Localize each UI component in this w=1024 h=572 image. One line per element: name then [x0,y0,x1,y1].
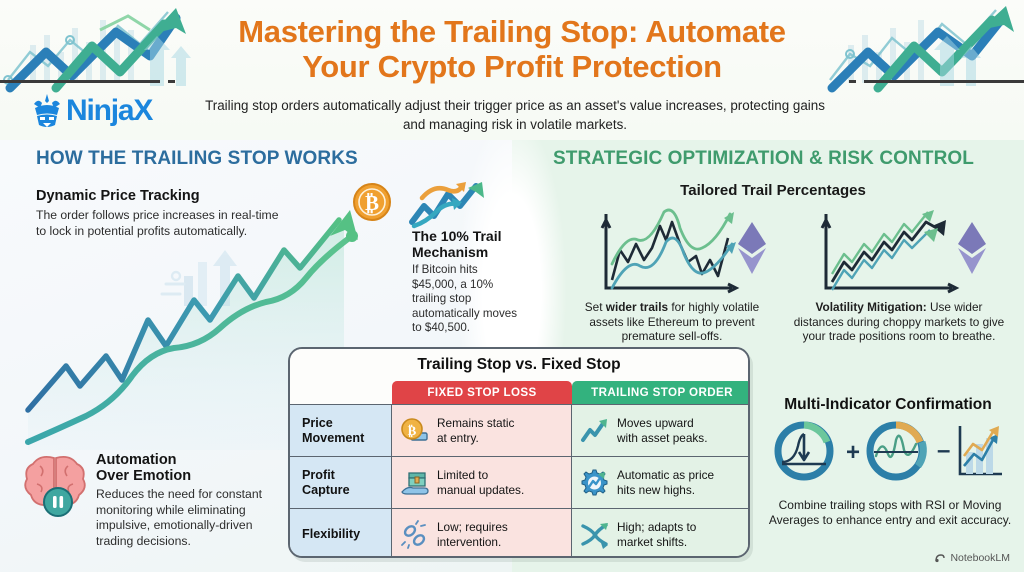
broken-chain-icon [400,520,430,550]
cell-trailing-flexibility: High; adapts to market shifts. [572,508,750,558]
table-row: Profit Capture Limited to manual updates… [290,456,748,508]
cell-fixed-price-movement: ₿ Remains static at entry. [392,404,572,456]
row-label-line-1: Profit [302,468,335,482]
cell-text-fixed-2: Limited to manual updates. [437,468,524,497]
svg-text:₿: ₿ [408,423,417,438]
dynamic-price-title: Dynamic Price Tracking [36,188,281,205]
brand-logo[interactable]: NinjaX [30,92,152,130]
up-arrow-trend-icon [580,416,610,446]
notebooklm-label: NotebookLM [950,552,1010,564]
header-rule-dot-left [168,80,175,83]
trail-mechanism-block: The 10% Trail Mechanism If Bitcoin hits … [412,228,522,336]
header-subtitle: Trailing stop orders automatically adjus… [205,96,825,134]
tailored-trail-caption-2: Volatility Mitigation: Use wider distanc… [790,300,1008,344]
comparison-table-header-row: FIXED STOP LOSS TRAILING STOP ORDER [290,381,748,404]
automation-title-line-2: Over Emotion [96,468,191,484]
comparison-table: Trailing Stop vs. Fixed Stop FIXED STOP … [288,347,750,558]
multi-indicator-title: Multi-Indicator Confirmation [760,396,1016,414]
cell-text-line-1: High; adapts to [617,520,696,534]
cell-text-line-1: Remains static [437,416,514,430]
comparison-table-title: Trailing Stop vs. Fixed Stop [290,349,748,381]
row-label-line-1: Price [302,416,333,430]
minus-operator: – [937,437,950,464]
cell-fixed-profit-capture: Limited to manual updates. [392,456,572,508]
trail-mechanism-title: The 10% Trail Mechanism [412,228,522,260]
header-rule-right [864,80,1024,83]
cell-text-trailing-3: High; adapts to market shifts. [617,520,696,549]
dynamic-price-tracking-block: Dynamic Price Tracking The order follows… [36,188,281,239]
comparison-header-trailing: TRAILING STOP ORDER [572,381,750,404]
hand-treasure-chest-icon [400,468,430,498]
rsi-gauge-icon [778,425,830,477]
svg-text:₿: ₿ [365,191,379,215]
cell-text-line-2: intervention. [437,535,501,549]
notebooklm-watermark: NotebookLM [934,552,1010,564]
title-line-1: Mastering the Trailing Stop: Automate [238,14,786,49]
row-label-line-1: Flexibility [302,527,360,542]
plus-operator: + [846,439,860,466]
bitcoin-coin-card-icon: ₿ [400,416,430,446]
multi-indicator-body: Combine trailing stops with RSI or Movin… [765,498,1015,528]
comparison-header-fixed: FIXED STOP LOSS [392,381,572,404]
automation-title: Automation Over Emotion [96,452,281,484]
trail-mechanism-title-line-2: Mechanism [412,244,488,260]
bar-chart-trend-icon [960,426,1002,474]
cell-text-line-1: Limited to [437,468,488,482]
notebooklm-icon [934,552,946,564]
cell-text-line-1: Automatic as price [617,468,714,482]
cell-text-line-1: Low; requires [437,520,508,534]
ninja-mask-icon [30,92,64,130]
cell-text-trailing-1: Moves upward with asset peaks. [617,416,708,445]
row-label-price-movement: Price Movement [290,404,392,456]
dynamic-price-body: The order follows price increases in rea… [36,208,281,239]
tailored-trail-caption-1: Set wider trails for highly volatile ass… [567,300,777,344]
title-line-2: Your Crypto Profit Protection [180,49,844,84]
table-row: Flexibility Low; requires intervention. [290,508,748,558]
table-row: Price Movement ₿ Remains static at entry… [290,404,748,456]
cell-text-line-2: market shifts. [617,535,687,549]
row-label-line-2: Capture [302,483,350,497]
moving-average-gauge-icon [870,425,923,477]
cell-text-fixed-1: Remains static at entry. [437,416,514,445]
crossing-arrows-icon [580,520,610,550]
automation-over-emotion-block: Automation Over Emotion Reduces the need… [96,452,281,549]
cell-text-line-2: manual updates. [437,483,524,497]
cell-text-fixed-3: Low; requires intervention. [437,520,508,549]
brain-pause-icon [22,450,90,520]
row-label-flexibility: Flexibility [290,508,392,558]
brand-logo-text: NinjaX [66,96,152,126]
header-rule-left [0,80,160,83]
row-label-profit-capture: Profit Capture [290,456,392,508]
multi-indicator-icon-row: + – [772,420,1004,482]
row-label-line-2: Movement [302,431,364,445]
cell-fixed-flexibility: Low; requires intervention. [392,508,572,558]
cell-text-line-2: with asset peaks. [617,431,708,445]
up-trend-arrows-icon [404,182,490,230]
automation-body: Reduces the need for constant monitoring… [96,487,281,549]
cell-text-line-1: Moves upward [617,416,694,430]
cell-trailing-price-movement: Moves upward with asset peaks. [572,404,750,456]
bitcoin-coin-icon: ₿ [352,182,392,222]
tailored-trail-subheader: Tailored Trail Percentages [553,182,993,199]
caption-1-lead: Set [585,300,606,314]
trail-mechanism-body: If Bitcoin hits $45,000, a 10% trailing … [412,263,522,336]
comparison-header-spacer [290,381,392,404]
caption-2-bold: Volatility Mitigation: [816,300,927,314]
cell-text-line-2: hits new highs. [617,483,695,497]
volatile-price-chart-icon [580,204,780,300]
cell-trailing-profit-capture: Automatic as price hits new highs. [572,456,750,508]
caption-1-bold: wider trails [606,300,668,314]
header-rule-dot-right [849,80,856,83]
gear-trend-icon [580,468,610,498]
steady-uptrend-chart-icon [800,204,1000,300]
automation-title-line-1: Automation [96,452,177,468]
cell-text-line-2: at entry. [437,431,479,445]
page-title: Mastering the Trailing Stop: Automate Yo… [180,14,844,84]
trail-mechanism-title-line-1: The 10% Trail [412,228,501,244]
infographic-canvas: Mastering the Trailing Stop: Automate Yo… [0,0,1024,572]
right-section-header: STRATEGIC OPTIMIZATION & RISK CONTROL [553,148,974,170]
left-section-header: HOW THE TRAILING STOP WORKS [36,148,358,170]
cell-text-trailing-2: Automatic as price hits new highs. [617,468,714,497]
